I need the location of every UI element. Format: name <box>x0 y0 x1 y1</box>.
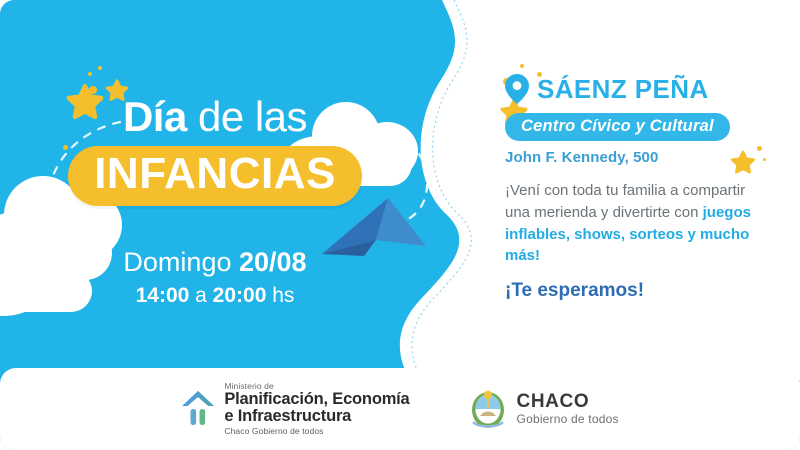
map-pin-icon <box>505 74 529 104</box>
ministry-text: Ministerio de Planificación, Economía e … <box>224 382 409 437</box>
cta-text: ¡Te esperamos! <box>505 280 795 302</box>
event-date: Domingo 20/08 <box>0 246 430 280</box>
event-time: 14:00 a 20:00 hs <box>0 282 430 309</box>
time-start: 14:00 <box>136 284 190 307</box>
event-poster: Día de las INFANCIAS Domingo 20/08 14:00… <box>0 0 800 450</box>
province-logo: CHACO Gobierno de todos <box>468 386 619 432</box>
date-block: Domingo 20/08 14:00 a 20:00 hs <box>0 246 430 309</box>
province-text: CHACO Gobierno de todos <box>517 392 619 426</box>
headline-word-dia: Día <box>123 93 187 140</box>
venue-address: John F. Kennedy, 500 <box>505 149 795 166</box>
info-panel-content: SÁENZ PEÑA Centro Cívico y Cultural John… <box>505 74 795 302</box>
house-columns-icon <box>181 389 215 429</box>
footer-bar: Ministerio de Planificación, Economía e … <box>0 368 800 450</box>
province-tagline: Gobierno de todos <box>517 413 619 426</box>
venue-badge: Centro Cívico y Cultural <box>505 113 730 141</box>
time-end: 20:00 <box>213 284 267 307</box>
time-joiner: a <box>189 284 212 307</box>
province-name: CHACO <box>517 392 619 413</box>
chaco-coat-of-arms-icon <box>468 386 508 432</box>
date-day-label: Domingo <box>123 247 239 277</box>
headline-block: Día de las INFANCIAS <box>0 96 430 206</box>
location-city: SÁENZ PEÑA <box>537 76 709 102</box>
headline-rest: de las <box>187 93 307 140</box>
ministry-name-line-1: Planificación, Economía <box>224 391 409 408</box>
time-suffix: hs <box>266 284 294 307</box>
event-description: ¡Vení con toda tu familia a compartir un… <box>505 180 767 267</box>
ministry-tagline: Chaco Gobierno de todos <box>224 427 409 436</box>
ministry-logo: Ministerio de Planificación, Economía e … <box>181 382 409 437</box>
headline-line-1: Día de las <box>0 96 430 138</box>
ministry-name-line-2: e Infraestructura <box>224 408 409 425</box>
date-day-value: 20/08 <box>239 247 307 277</box>
headline-pill-infancias: INFANCIAS <box>68 146 362 206</box>
location-heading: SÁENZ PEÑA <box>505 74 795 104</box>
